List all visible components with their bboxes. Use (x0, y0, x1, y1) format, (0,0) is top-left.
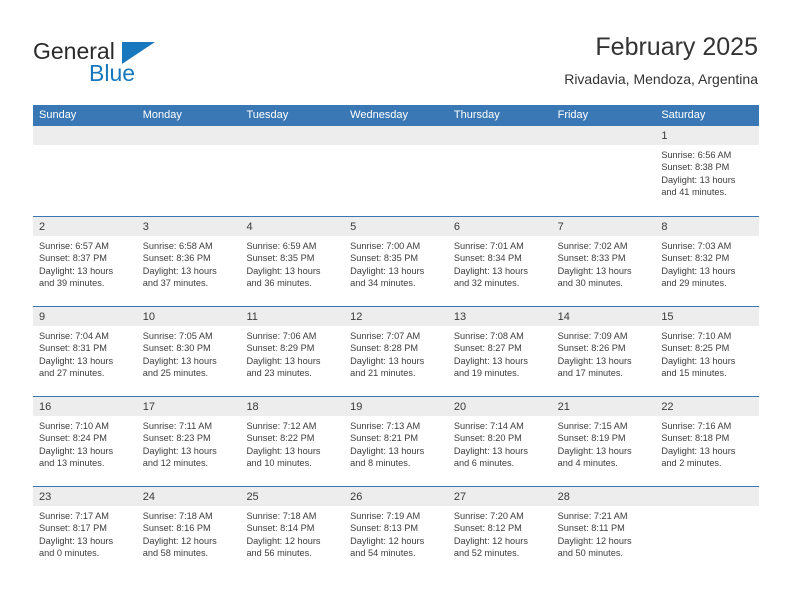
calendar-week-row: 1Sunrise: 6:56 AMSunset: 8:38 PMDaylight… (33, 126, 759, 216)
day-number: 14 (558, 311, 570, 323)
calendar-day-cell[interactable]: 22Sunrise: 7:16 AMSunset: 8:18 PMDayligh… (655, 397, 759, 486)
sunrise-text: Sunrise: 7:21 AM (558, 510, 651, 522)
calendar-day-cell[interactable]: 26Sunrise: 7:19 AMSunset: 8:13 PMDayligh… (344, 487, 448, 576)
day-number: 10 (143, 311, 155, 323)
day-details: Sunrise: 7:17 AMSunset: 8:17 PMDaylight:… (33, 506, 137, 560)
day-of-week-header-row: SundayMondayTuesdayWednesdayThursdayFrid… (33, 105, 759, 126)
day-number-band: 11 (240, 307, 344, 326)
day-of-week-header-tuesday: Tuesday (240, 105, 344, 126)
calendar-week-row: 16Sunrise: 7:10 AMSunset: 8:24 PMDayligh… (33, 396, 759, 486)
day-details (137, 145, 241, 149)
day-number: 25 (246, 491, 258, 503)
sunset-text: Sunset: 8:12 PM (454, 522, 547, 534)
daylight-text: Daylight: 13 hours (246, 445, 339, 457)
day-number-band: 24 (137, 487, 241, 506)
day-number-band: 4 (240, 217, 344, 236)
day-details: Sunrise: 6:56 AMSunset: 8:38 PMDaylight:… (655, 145, 759, 199)
day-details: Sunrise: 7:16 AMSunset: 8:18 PMDaylight:… (655, 416, 759, 470)
day-details: Sunrise: 7:00 AMSunset: 8:35 PMDaylight:… (344, 236, 448, 290)
day-details (552, 145, 656, 149)
daylight-text: Daylight: 12 hours (246, 535, 339, 547)
sunrise-text: Sunrise: 7:17 AM (39, 510, 132, 522)
day-number: 5 (350, 221, 356, 233)
daylight-text-continued: and 56 minutes. (246, 547, 339, 559)
daylight-text-continued: and 37 minutes. (143, 277, 236, 289)
day-number: 21 (558, 401, 570, 413)
daylight-text: Daylight: 13 hours (661, 445, 754, 457)
day-details: Sunrise: 7:05 AMSunset: 8:30 PMDaylight:… (137, 326, 241, 380)
calendar-day-cell[interactable]: 9Sunrise: 7:04 AMSunset: 8:31 PMDaylight… (33, 307, 137, 396)
calendar-day-cell[interactable]: 11Sunrise: 7:06 AMSunset: 8:29 PMDayligh… (240, 307, 344, 396)
day-number-band: 10 (137, 307, 241, 326)
daylight-text: Daylight: 13 hours (350, 445, 443, 457)
daylight-text-continued: and 0 minutes. (39, 547, 132, 559)
daylight-text: Daylight: 13 hours (143, 445, 236, 457)
daylight-text: Daylight: 13 hours (246, 355, 339, 367)
sunset-text: Sunset: 8:32 PM (661, 252, 754, 264)
calendar-day-cell[interactable]: 25Sunrise: 7:18 AMSunset: 8:14 PMDayligh… (240, 487, 344, 576)
day-number-band: 26 (344, 487, 448, 506)
day-number: 2 (39, 221, 45, 233)
sunrise-text: Sunrise: 7:18 AM (246, 510, 339, 522)
day-number-band: 14 (552, 307, 656, 326)
sunrise-text: Sunrise: 7:10 AM (39, 420, 132, 432)
day-details: Sunrise: 7:07 AMSunset: 8:28 PMDaylight:… (344, 326, 448, 380)
day-number-band: 28 (552, 487, 656, 506)
daylight-text: Daylight: 13 hours (661, 355, 754, 367)
calendar-day-cell[interactable]: 8Sunrise: 7:03 AMSunset: 8:32 PMDaylight… (655, 217, 759, 306)
day-of-week-header-friday: Friday (552, 105, 656, 126)
day-of-week-header-saturday: Saturday (655, 105, 759, 126)
sunrise-text: Sunrise: 7:01 AM (454, 240, 547, 252)
day-details: Sunrise: 7:19 AMSunset: 8:13 PMDaylight:… (344, 506, 448, 560)
sunrise-text: Sunrise: 7:15 AM (558, 420, 651, 432)
sunset-text: Sunset: 8:36 PM (143, 252, 236, 264)
daylight-text-continued: and 23 minutes. (246, 367, 339, 379)
day-number: 24 (143, 491, 155, 503)
daylight-text: Daylight: 13 hours (661, 174, 754, 186)
daylight-text: Daylight: 13 hours (143, 265, 236, 277)
sunset-text: Sunset: 8:16 PM (143, 522, 236, 534)
day-number-band: 18 (240, 397, 344, 416)
day-details: Sunrise: 6:57 AMSunset: 8:37 PMDaylight:… (33, 236, 137, 290)
daylight-text: Daylight: 13 hours (39, 355, 132, 367)
day-details: Sunrise: 7:15 AMSunset: 8:19 PMDaylight:… (552, 416, 656, 470)
sunrise-text: Sunrise: 7:13 AM (350, 420, 443, 432)
sunset-text: Sunset: 8:23 PM (143, 432, 236, 444)
day-details: Sunrise: 7:01 AMSunset: 8:34 PMDaylight:… (448, 236, 552, 290)
day-number-band: 20 (448, 397, 552, 416)
daylight-text: Daylight: 13 hours (558, 355, 651, 367)
day-number-band (448, 126, 552, 145)
daylight-text-continued: and 10 minutes. (246, 457, 339, 469)
daylight-text-continued: and 27 minutes. (39, 367, 132, 379)
day-details: Sunrise: 7:10 AMSunset: 8:24 PMDaylight:… (33, 416, 137, 470)
day-of-week-header-monday: Monday (137, 105, 241, 126)
calendar-day-cell[interactable]: 13Sunrise: 7:08 AMSunset: 8:27 PMDayligh… (448, 307, 552, 396)
day-number: 26 (350, 491, 362, 503)
sunset-text: Sunset: 8:35 PM (246, 252, 339, 264)
sunset-text: Sunset: 8:30 PM (143, 342, 236, 354)
day-details (655, 506, 759, 510)
day-number: 18 (246, 401, 258, 413)
day-number-band: 12 (344, 307, 448, 326)
day-number: 6 (454, 221, 460, 233)
day-number-band: 16 (33, 397, 137, 416)
calendar-day-cell[interactable]: 3Sunrise: 6:58 AMSunset: 8:36 PMDaylight… (137, 217, 241, 306)
calendar-day-cell[interactable]: 21Sunrise: 7:15 AMSunset: 8:19 PMDayligh… (552, 397, 656, 486)
day-number-band: 25 (240, 487, 344, 506)
day-number-band: 19 (344, 397, 448, 416)
day-details (344, 145, 448, 149)
daylight-text: Daylight: 12 hours (454, 535, 547, 547)
daylight-text: Daylight: 13 hours (350, 265, 443, 277)
sunrise-text: Sunrise: 7:08 AM (454, 330, 547, 342)
daylight-text-continued: and 8 minutes. (350, 457, 443, 469)
calendar-day-cell[interactable]: 15Sunrise: 7:10 AMSunset: 8:25 PMDayligh… (655, 307, 759, 396)
calendar-day-cell[interactable]: 28Sunrise: 7:21 AMSunset: 8:11 PMDayligh… (552, 487, 656, 576)
day-details: Sunrise: 7:12 AMSunset: 8:22 PMDaylight:… (240, 416, 344, 470)
calendar-page: General Blue February 2025 Rivadavia, Me… (0, 0, 792, 612)
calendar-day-cell[interactable]: 5Sunrise: 7:00 AMSunset: 8:35 PMDaylight… (344, 217, 448, 306)
sunrise-text: Sunrise: 7:20 AM (454, 510, 547, 522)
daylight-text-continued: and 19 minutes. (454, 367, 547, 379)
day-number: 17 (143, 401, 155, 413)
sunset-text: Sunset: 8:26 PM (558, 342, 651, 354)
calendar-weeks: 1Sunrise: 6:56 AMSunset: 8:38 PMDaylight… (33, 126, 759, 576)
day-details: Sunrise: 7:14 AMSunset: 8:20 PMDaylight:… (448, 416, 552, 470)
calendar-week-row: 9Sunrise: 7:04 AMSunset: 8:31 PMDaylight… (33, 306, 759, 396)
page-header: General Blue February 2025 Rivadavia, Me… (0, 0, 792, 103)
logo-text-blue: Blue (89, 60, 135, 87)
sunrise-text: Sunrise: 7:18 AM (143, 510, 236, 522)
daylight-text-continued: and 21 minutes. (350, 367, 443, 379)
sunrise-text: Sunrise: 7:04 AM (39, 330, 132, 342)
daylight-text: Daylight: 13 hours (246, 265, 339, 277)
calendar-day-cell[interactable]: 16Sunrise: 7:10 AMSunset: 8:24 PMDayligh… (33, 397, 137, 486)
calendar-day-cell[interactable]: 23Sunrise: 7:17 AMSunset: 8:17 PMDayligh… (33, 487, 137, 576)
day-number-band: 15 (655, 307, 759, 326)
day-number-band (344, 126, 448, 145)
daylight-text-continued: and 32 minutes. (454, 277, 547, 289)
sunrise-text: Sunrise: 6:56 AM (661, 149, 754, 161)
calendar-cell-empty (655, 487, 759, 576)
sunrise-text: Sunrise: 7:14 AM (454, 420, 547, 432)
daylight-text-continued: and 39 minutes. (39, 277, 132, 289)
sunset-text: Sunset: 8:38 PM (661, 161, 754, 173)
day-details (240, 145, 344, 149)
daylight-text: Daylight: 13 hours (39, 265, 132, 277)
sunrise-text: Sunrise: 7:19 AM (350, 510, 443, 522)
day-number: 7 (558, 221, 564, 233)
day-details: Sunrise: 7:04 AMSunset: 8:31 PMDaylight:… (33, 326, 137, 380)
sunrise-text: Sunrise: 7:09 AM (558, 330, 651, 342)
day-details: Sunrise: 7:18 AMSunset: 8:16 PMDaylight:… (137, 506, 241, 560)
calendar-day-cell[interactable]: 12Sunrise: 7:07 AMSunset: 8:28 PMDayligh… (344, 307, 448, 396)
sunrise-text: Sunrise: 6:59 AM (246, 240, 339, 252)
daylight-text-continued: and 54 minutes. (350, 547, 443, 559)
day-details (33, 145, 137, 149)
day-number: 4 (246, 221, 252, 233)
daylight-text: Daylight: 13 hours (661, 265, 754, 277)
daylight-text: Daylight: 12 hours (143, 535, 236, 547)
day-number: 3 (143, 221, 149, 233)
daylight-text-continued: and 25 minutes. (143, 367, 236, 379)
sunset-text: Sunset: 8:14 PM (246, 522, 339, 534)
day-number-band: 5 (344, 217, 448, 236)
day-details: Sunrise: 7:06 AMSunset: 8:29 PMDaylight:… (240, 326, 344, 380)
day-details: Sunrise: 7:08 AMSunset: 8:27 PMDaylight:… (448, 326, 552, 380)
sunrise-text: Sunrise: 7:07 AM (350, 330, 443, 342)
daylight-text: Daylight: 13 hours (454, 265, 547, 277)
day-number-band (240, 126, 344, 145)
sunset-text: Sunset: 8:29 PM (246, 342, 339, 354)
title-block: February 2025 Rivadavia, Mendoza, Argent… (564, 32, 758, 88)
daylight-text-continued: and 58 minutes. (143, 547, 236, 559)
daylight-text-continued: and 34 minutes. (350, 277, 443, 289)
day-number-band: 27 (448, 487, 552, 506)
day-number-band (552, 126, 656, 145)
sunset-text: Sunset: 8:21 PM (350, 432, 443, 444)
calendar-cell-empty (240, 126, 344, 215)
daylight-text-continued: and 30 minutes. (558, 277, 651, 289)
calendar-day-cell[interactable]: 6Sunrise: 7:01 AMSunset: 8:34 PMDaylight… (448, 217, 552, 306)
day-number-band: 7 (552, 217, 656, 236)
day-number: 13 (454, 311, 466, 323)
calendar-day-cell[interactable]: 10Sunrise: 7:05 AMSunset: 8:30 PMDayligh… (137, 307, 241, 396)
day-number: 11 (246, 311, 257, 323)
calendar-day-cell[interactable]: 7Sunrise: 7:02 AMSunset: 8:33 PMDaylight… (552, 217, 656, 306)
day-number: 20 (454, 401, 466, 413)
sunset-text: Sunset: 8:35 PM (350, 252, 443, 264)
sunset-text: Sunset: 8:34 PM (454, 252, 547, 264)
day-number: 27 (454, 491, 466, 503)
sunrise-text: Sunrise: 7:11 AM (143, 420, 236, 432)
day-of-week-header-sunday: Sunday (33, 105, 137, 126)
day-number: 15 (661, 311, 673, 323)
day-number: 28 (558, 491, 570, 503)
day-details: Sunrise: 7:18 AMSunset: 8:14 PMDaylight:… (240, 506, 344, 560)
day-number: 22 (661, 401, 673, 413)
day-details (448, 145, 552, 149)
daylight-text-continued: and 12 minutes. (143, 457, 236, 469)
sunrise-text: Sunrise: 7:02 AM (558, 240, 651, 252)
sunset-text: Sunset: 8:37 PM (39, 252, 132, 264)
day-number: 16 (39, 401, 51, 413)
daylight-text: Daylight: 13 hours (39, 445, 132, 457)
day-details: Sunrise: 7:03 AMSunset: 8:32 PMDaylight:… (655, 236, 759, 290)
day-number-band (33, 126, 137, 145)
day-details: Sunrise: 7:13 AMSunset: 8:21 PMDaylight:… (344, 416, 448, 470)
day-number-band (655, 487, 759, 506)
calendar-day-cell[interactable]: 1Sunrise: 6:56 AMSunset: 8:38 PMDaylight… (655, 126, 759, 215)
calendar-day-cell[interactable]: 2Sunrise: 6:57 AMSunset: 8:37 PMDaylight… (33, 217, 137, 306)
sunrise-text: Sunrise: 6:57 AM (39, 240, 132, 252)
sunrise-text: Sunrise: 7:05 AM (143, 330, 236, 342)
daylight-text: Daylight: 13 hours (558, 265, 651, 277)
daylight-text-continued: and 52 minutes. (454, 547, 547, 559)
calendar-day-cell[interactable]: 4Sunrise: 6:59 AMSunset: 8:35 PMDaylight… (240, 217, 344, 306)
calendar-week-row: 23Sunrise: 7:17 AMSunset: 8:17 PMDayligh… (33, 486, 759, 576)
calendar-day-cell[interactable]: 18Sunrise: 7:12 AMSunset: 8:22 PMDayligh… (240, 397, 344, 486)
calendar-week-row: 2Sunrise: 6:57 AMSunset: 8:37 PMDaylight… (33, 216, 759, 306)
daylight-text-continued: and 17 minutes. (558, 367, 651, 379)
daylight-text-continued: and 15 minutes. (661, 367, 754, 379)
daylight-text-continued: and 29 minutes. (661, 277, 754, 289)
day-number: 23 (39, 491, 51, 503)
sunset-text: Sunset: 8:22 PM (246, 432, 339, 444)
daylight-text-continued: and 41 minutes. (661, 186, 754, 198)
daylight-text: Daylight: 13 hours (39, 535, 132, 547)
day-number: 12 (350, 311, 362, 323)
day-number-band: 23 (33, 487, 137, 506)
page-title: February 2025 (564, 32, 758, 62)
sunrise-text: Sunrise: 7:03 AM (661, 240, 754, 252)
sunset-text: Sunset: 8:27 PM (454, 342, 547, 354)
sunset-text: Sunset: 8:17 PM (39, 522, 132, 534)
sunset-text: Sunset: 8:18 PM (661, 432, 754, 444)
general-blue-logo[interactable]: General Blue (33, 38, 263, 90)
day-number: 1 (661, 130, 667, 142)
sunset-text: Sunset: 8:28 PM (350, 342, 443, 354)
sunrise-text: Sunrise: 7:06 AM (246, 330, 339, 342)
daylight-text-continued: and 36 minutes. (246, 277, 339, 289)
daylight-text: Daylight: 13 hours (350, 355, 443, 367)
day-number-band: 21 (552, 397, 656, 416)
day-details: Sunrise: 7:11 AMSunset: 8:23 PMDaylight:… (137, 416, 241, 470)
day-number-band: 3 (137, 217, 241, 236)
day-of-week-header-wednesday: Wednesday (344, 105, 448, 126)
day-number-band: 8 (655, 217, 759, 236)
daylight-text-continued: and 4 minutes. (558, 457, 651, 469)
sunset-text: Sunset: 8:33 PM (558, 252, 651, 264)
sunset-text: Sunset: 8:31 PM (39, 342, 132, 354)
calendar-day-cell[interactable]: 17Sunrise: 7:11 AMSunset: 8:23 PMDayligh… (137, 397, 241, 486)
calendar-cell-empty (344, 126, 448, 215)
day-of-week-header-thursday: Thursday (448, 105, 552, 126)
day-details: Sunrise: 7:20 AMSunset: 8:12 PMDaylight:… (448, 506, 552, 560)
day-details: Sunrise: 6:58 AMSunset: 8:36 PMDaylight:… (137, 236, 241, 290)
calendar-cell-empty (552, 126, 656, 215)
sunrise-text: Sunrise: 7:10 AM (661, 330, 754, 342)
daylight-text: Daylight: 13 hours (143, 355, 236, 367)
calendar-grid: SundayMondayTuesdayWednesdayThursdayFrid… (33, 105, 759, 576)
calendar-day-cell[interactable]: 24Sunrise: 7:18 AMSunset: 8:16 PMDayligh… (137, 487, 241, 576)
sunset-text: Sunset: 8:11 PM (558, 522, 651, 534)
day-number-band (137, 126, 241, 145)
day-number: 8 (661, 221, 667, 233)
calendar-day-cell[interactable]: 20Sunrise: 7:14 AMSunset: 8:20 PMDayligh… (448, 397, 552, 486)
day-number-band: 17 (137, 397, 241, 416)
day-details: Sunrise: 7:02 AMSunset: 8:33 PMDaylight:… (552, 236, 656, 290)
day-details: Sunrise: 7:21 AMSunset: 8:11 PMDaylight:… (552, 506, 656, 560)
calendar-cell-empty (33, 126, 137, 215)
daylight-text: Daylight: 13 hours (454, 445, 547, 457)
day-number-band: 1 (655, 126, 759, 145)
daylight-text-continued: and 50 minutes. (558, 547, 651, 559)
daylight-text-continued: and 2 minutes. (661, 457, 754, 469)
calendar-cell-empty (448, 126, 552, 215)
day-number-band: 6 (448, 217, 552, 236)
sunrise-text: Sunrise: 7:00 AM (350, 240, 443, 252)
calendar-day-cell[interactable]: 19Sunrise: 7:13 AMSunset: 8:21 PMDayligh… (344, 397, 448, 486)
calendar-day-cell[interactable]: 14Sunrise: 7:09 AMSunset: 8:26 PMDayligh… (552, 307, 656, 396)
daylight-text: Daylight: 12 hours (350, 535, 443, 547)
day-number-band: 22 (655, 397, 759, 416)
sunset-text: Sunset: 8:20 PM (454, 432, 547, 444)
day-number-band: 13 (448, 307, 552, 326)
day-details: Sunrise: 6:59 AMSunset: 8:35 PMDaylight:… (240, 236, 344, 290)
calendar-cell-empty (137, 126, 241, 215)
day-number-band: 2 (33, 217, 137, 236)
day-details: Sunrise: 7:09 AMSunset: 8:26 PMDaylight:… (552, 326, 656, 380)
day-number: 19 (350, 401, 362, 413)
calendar-day-cell[interactable]: 27Sunrise: 7:20 AMSunset: 8:12 PMDayligh… (448, 487, 552, 576)
daylight-text: Daylight: 13 hours (558, 445, 651, 457)
sunset-text: Sunset: 8:13 PM (350, 522, 443, 534)
day-details: Sunrise: 7:10 AMSunset: 8:25 PMDaylight:… (655, 326, 759, 380)
daylight-text: Daylight: 12 hours (558, 535, 651, 547)
sunset-text: Sunset: 8:25 PM (661, 342, 754, 354)
daylight-text: Daylight: 13 hours (454, 355, 547, 367)
day-number: 9 (39, 311, 45, 323)
sunrise-text: Sunrise: 6:58 AM (143, 240, 236, 252)
page-subtitle: Rivadavia, Mendoza, Argentina (564, 71, 758, 88)
sunrise-text: Sunrise: 7:12 AM (246, 420, 339, 432)
sunrise-text: Sunrise: 7:16 AM (661, 420, 754, 432)
daylight-text-continued: and 6 minutes. (454, 457, 547, 469)
day-number-band: 9 (33, 307, 137, 326)
sunset-text: Sunset: 8:19 PM (558, 432, 651, 444)
sunset-text: Sunset: 8:24 PM (39, 432, 132, 444)
daylight-text-continued: and 13 minutes. (39, 457, 132, 469)
